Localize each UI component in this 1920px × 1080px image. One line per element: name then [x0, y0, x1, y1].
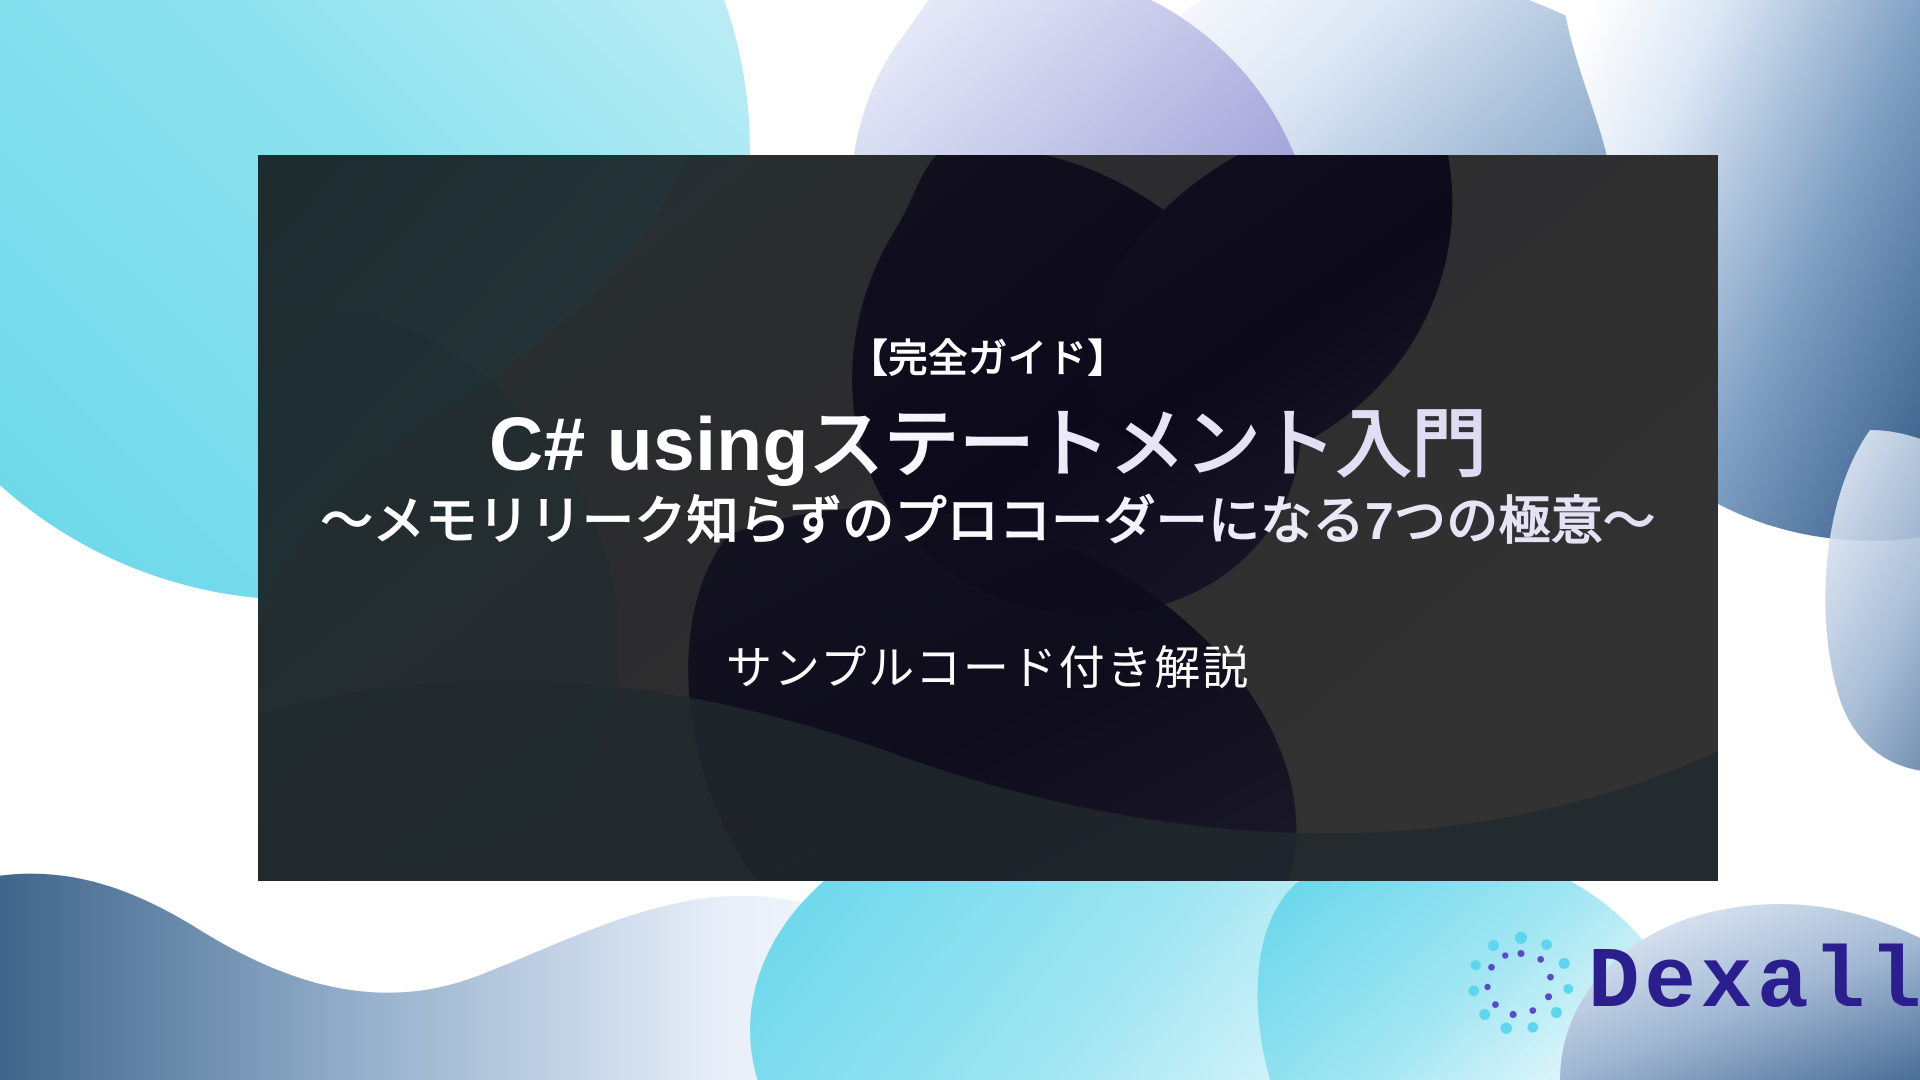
title-card: 【完全ガイド】 C# usingステートメント入門 〜メモリリーク知らずのプロコ…: [258, 155, 1718, 881]
blob-bottom-left-blue: [0, 874, 1030, 1080]
page-title: C# usingステートメント入門: [489, 400, 1487, 489]
card-text-block: 【完全ガイド】 C# usingステートメント入門 〜メモリリーク知らずのプロコ…: [258, 155, 1718, 881]
eyebrow-label: 【完全ガイド】: [849, 337, 1127, 384]
blob-right-edge-blue: [1825, 430, 1920, 772]
page-subtitle: 〜メモリリーク知らずのプロコーダーになる7つの極意〜: [321, 490, 1656, 555]
dexall-dot-ring-icon: [1462, 924, 1580, 1042]
poster-canvas: 【完全ガイド】 C# usingステートメント入門 〜メモリリーク知らずのプロコ…: [0, 0, 1920, 1080]
tagline: サンプルコード付き解説: [726, 639, 1250, 699]
dexall-wordmark: Dexall: [1588, 940, 1920, 1026]
dexall-logo: Dexall: [1462, 924, 1920, 1042]
